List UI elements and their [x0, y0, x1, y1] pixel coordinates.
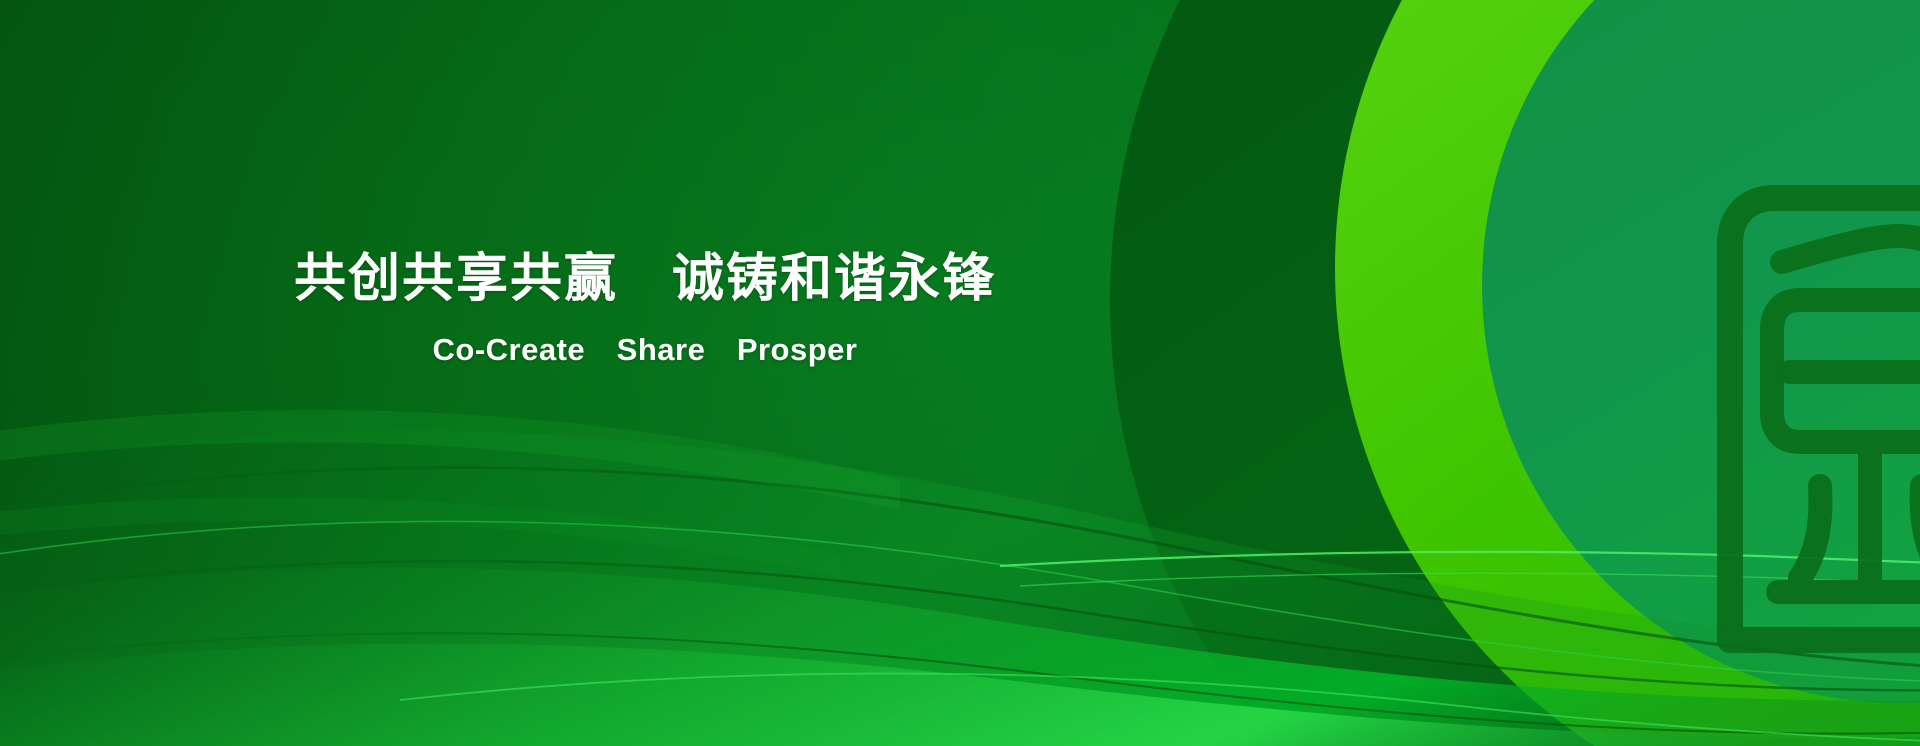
logo-stroke-cap [1782, 236, 1920, 262]
logo-character-yuan [1730, 198, 1920, 640]
hero-banner: 共创共享共赢 诚铸和谐永锋 Co-Create Share Prosper [0, 0, 1920, 746]
logo-stroke-dot-left [1800, 486, 1820, 578]
logo-watermark-group [0, 0, 1920, 746]
logo-stroke-frame [1730, 198, 1920, 640]
